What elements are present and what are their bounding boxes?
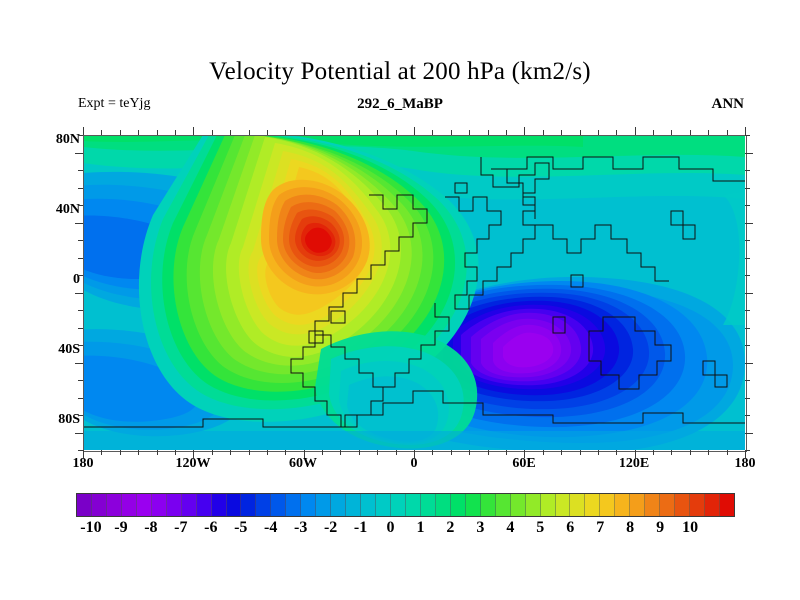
colorbar-cell	[77, 494, 92, 516]
x-axis-tick	[175, 450, 176, 455]
x-axis-tick	[506, 450, 507, 455]
velocity-potential-field	[83, 135, 745, 450]
colorbar-cell	[271, 494, 286, 516]
x-axis-tick	[745, 450, 746, 458]
x-axis-tick	[377, 450, 378, 455]
y-axis-tick	[78, 415, 83, 416]
colorbar-cell	[241, 494, 256, 516]
x-axis-tick-top	[580, 130, 581, 135]
y-axis-tick	[78, 170, 83, 171]
colorbar-cell	[212, 494, 227, 516]
x-axis-tick-top	[469, 130, 470, 135]
filled-contour-bands	[83, 135, 745, 450]
x-axis-tick	[138, 450, 139, 455]
x-axis-tick-top	[543, 130, 544, 135]
x-axis-tick	[193, 450, 194, 458]
x-axis-tick-top	[193, 127, 194, 135]
x-axis-tick	[469, 450, 470, 455]
colorbar-cell	[526, 494, 541, 516]
colorbar-cell	[660, 494, 675, 516]
y-axis-tick-right	[745, 398, 750, 399]
colorbar-cell	[346, 494, 361, 516]
y-axis-tick-right	[745, 433, 753, 434]
y-axis-tick-right	[745, 450, 750, 451]
y-axis-tick-right	[745, 275, 750, 276]
x-axis-tick	[708, 450, 709, 455]
x-axis-tick-top	[138, 130, 139, 135]
colorbar-cell	[645, 494, 660, 516]
colorbar-cell	[496, 494, 511, 516]
y-axis-tick-right	[745, 345, 750, 346]
x-axis-tick	[451, 450, 452, 455]
x-axis-tick-top	[598, 130, 599, 135]
x-axis-tick-top	[377, 130, 378, 135]
y-axis-tick	[75, 153, 83, 154]
colorbar-cell	[361, 494, 376, 516]
x-axis-tick-top	[727, 130, 728, 135]
y-axis-tick-right	[745, 223, 753, 224]
colorbar-cell	[436, 494, 451, 516]
colorbar-cell	[615, 494, 630, 516]
colorbar-cell	[690, 494, 705, 516]
x-axis-tick-top	[322, 130, 323, 135]
y-axis-tick-right	[745, 205, 750, 206]
x-axis-tick-top	[212, 130, 213, 135]
x-axis-tick-top	[561, 130, 562, 135]
x-tick-label-60w: 60W	[273, 456, 333, 472]
x-axis-tick	[635, 450, 636, 458]
y-tick-label-40s: 40S	[40, 342, 80, 358]
x-tick-label-0: 0	[384, 456, 444, 472]
y-axis-tick	[78, 188, 83, 189]
y-axis-tick-right	[745, 135, 750, 136]
x-axis-tick	[359, 450, 360, 455]
y-axis-tick	[78, 275, 83, 276]
x-axis-tick	[598, 450, 599, 455]
colorbar-cell	[137, 494, 152, 516]
y-axis-tick	[78, 328, 83, 329]
x-axis-tick-top	[616, 130, 617, 135]
y-axis-tick-right	[745, 328, 750, 329]
colorbar-cell	[316, 494, 331, 516]
x-axis-tick	[267, 450, 268, 455]
colorbar-cell	[301, 494, 316, 516]
x-axis-tick	[304, 450, 305, 458]
x-tick-label-180e: 180	[715, 456, 775, 472]
x-axis-tick	[616, 450, 617, 455]
y-axis-tick	[78, 380, 83, 381]
colorbar-cell	[227, 494, 242, 516]
x-axis-tick-top	[267, 130, 268, 135]
x-axis-tick-top	[690, 130, 691, 135]
x-tick-label-180w: 180	[53, 456, 113, 472]
figure-canvas: Velocity Potential at 200 hPa (km2/s) 29…	[0, 0, 800, 600]
x-axis-tick	[488, 450, 489, 455]
x-axis-tick-top	[304, 127, 305, 135]
colorbar-cell	[466, 494, 481, 516]
x-axis-tick-top	[396, 130, 397, 135]
y-axis-tick	[78, 398, 83, 399]
y-axis-tick	[78, 345, 83, 346]
y-axis-tick	[78, 135, 83, 136]
x-axis-tick	[285, 450, 286, 455]
colorbar-cell	[122, 494, 137, 516]
colorbar	[76, 493, 735, 517]
y-axis-tick	[78, 205, 83, 206]
y-axis-tick-right	[745, 240, 750, 241]
x-axis-tick-top	[451, 130, 452, 135]
x-axis-tick-top	[230, 130, 231, 135]
y-axis-tick-right	[745, 415, 750, 416]
colorbar-cell	[167, 494, 182, 516]
x-axis-tick	[524, 450, 525, 458]
x-axis-tick-top	[488, 130, 489, 135]
x-axis-tick-top	[120, 130, 121, 135]
x-axis-tick	[432, 450, 433, 455]
y-axis-tick-right	[745, 170, 750, 171]
colorbar-cell	[391, 494, 406, 516]
x-axis-tick-top	[249, 130, 250, 135]
colorbar-cell	[600, 494, 615, 516]
contour-plot-area	[83, 135, 745, 450]
x-axis-tick-top	[653, 130, 654, 135]
colorbar-cell	[92, 494, 107, 516]
colorbar-cell	[630, 494, 645, 516]
x-axis-tick-top	[671, 130, 672, 135]
x-axis-tick	[157, 450, 158, 455]
x-axis-tick	[212, 450, 213, 455]
x-axis-tick	[322, 450, 323, 455]
colorbar-tick-label: 10	[670, 519, 710, 537]
page-title: Velocity Potential at 200 hPa (km2/s)	[0, 58, 800, 86]
x-axis-tick-top	[101, 130, 102, 135]
colorbar-cell	[556, 494, 571, 516]
y-tick-label-80n: 80N	[40, 132, 80, 148]
colorbar-cell	[197, 494, 212, 516]
colorbar-cell	[107, 494, 122, 516]
y-axis-tick	[75, 433, 83, 434]
y-axis-tick	[75, 223, 83, 224]
y-axis-tick-right	[745, 188, 750, 189]
colorbar-cell	[331, 494, 346, 516]
y-axis-tick	[78, 240, 83, 241]
colorbar-cell	[406, 494, 421, 516]
x-axis-tick	[671, 450, 672, 455]
x-axis-tick-top	[157, 130, 158, 135]
colorbar-cell	[511, 494, 526, 516]
y-tick-label-0: 0	[40, 272, 80, 288]
x-axis-tick-top	[745, 127, 746, 135]
experiment-label: Expt = teYjg	[78, 96, 150, 112]
x-axis-tick	[543, 450, 544, 455]
x-axis-tick	[653, 450, 654, 455]
x-axis-tick-top	[432, 130, 433, 135]
y-axis-tick	[75, 363, 83, 364]
y-axis-tick-right	[745, 258, 750, 259]
x-tick-label-120e: 120E	[604, 456, 664, 472]
y-axis-tick-right	[745, 363, 753, 364]
y-axis-tick-right	[745, 293, 753, 294]
y-axis-tick-right	[745, 380, 750, 381]
x-axis-tick	[83, 450, 84, 458]
x-tick-label-120w: 120W	[163, 456, 223, 472]
x-axis-tick	[101, 450, 102, 455]
y-axis-tick	[75, 293, 83, 294]
x-axis-tick	[120, 450, 121, 455]
colorbar-cell	[182, 494, 197, 516]
y-axis-tick	[78, 258, 83, 259]
colorbar-cell	[256, 494, 271, 516]
x-axis-tick-top	[708, 130, 709, 135]
colorbar-cell	[720, 494, 734, 516]
x-axis-tick	[249, 450, 250, 455]
y-axis-tick-right	[745, 310, 750, 311]
colorbar-cell	[152, 494, 167, 516]
x-axis-tick	[414, 450, 415, 458]
x-axis-tick	[230, 450, 231, 455]
y-axis-tick	[78, 450, 83, 451]
colorbar-cell	[421, 494, 436, 516]
colorbar-cell	[585, 494, 600, 516]
colorbar-cell	[541, 494, 556, 516]
x-axis-tick	[580, 450, 581, 455]
x-axis-tick	[340, 450, 341, 455]
y-axis-tick-right	[745, 153, 753, 154]
y-axis-tick	[78, 310, 83, 311]
colorbar-cell	[451, 494, 466, 516]
x-axis-tick	[561, 450, 562, 455]
colorbar-cell	[286, 494, 301, 516]
x-axis-tick-top	[414, 127, 415, 135]
y-tick-label-40n: 40N	[40, 202, 80, 218]
colorbar-cell	[675, 494, 690, 516]
y-tick-label-80s: 80S	[40, 412, 80, 428]
x-axis-tick-top	[635, 127, 636, 135]
x-tick-label-60e: 60E	[494, 456, 554, 472]
x-axis-tick-top	[524, 127, 525, 135]
x-axis-tick	[690, 450, 691, 455]
x-axis-tick	[727, 450, 728, 455]
season-label: ANN	[712, 96, 745, 113]
x-axis-tick-top	[506, 130, 507, 135]
colorbar-cells	[76, 493, 735, 517]
x-axis-tick-top	[175, 130, 176, 135]
x-axis-tick-top	[285, 130, 286, 135]
x-axis-tick-top	[83, 127, 84, 135]
x-axis-tick	[396, 450, 397, 455]
colorbar-cell	[570, 494, 585, 516]
x-axis-tick-top	[340, 130, 341, 135]
colorbar-cell	[705, 494, 720, 516]
x-axis-tick-top	[359, 130, 360, 135]
colorbar-cell	[481, 494, 496, 516]
colorbar-cell	[376, 494, 391, 516]
